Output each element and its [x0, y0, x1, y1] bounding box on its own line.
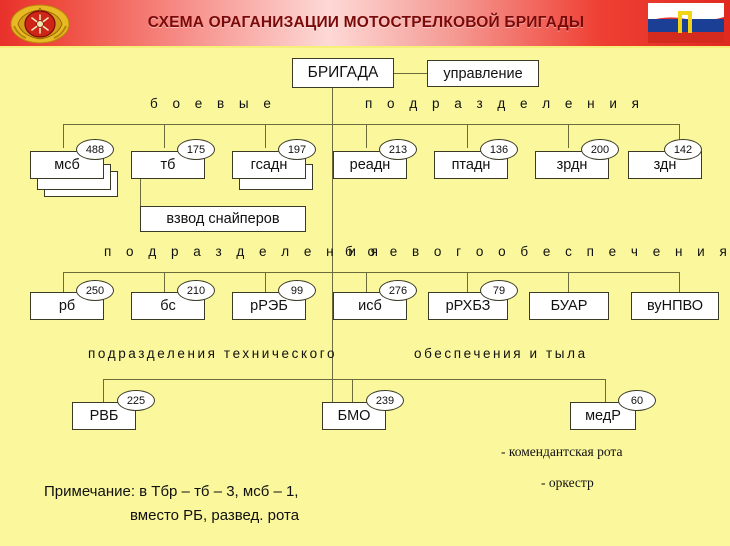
- drop-combat-1: [164, 124, 165, 148]
- badge-msb: 488: [76, 139, 114, 160]
- node-buar[interactable]: БУАР: [529, 292, 609, 320]
- node-upravlenie[interactable]: управление: [427, 60, 539, 87]
- drop-rear-0: [103, 379, 104, 402]
- section-label-support-right: б о е в о г о о б е с п е ч е н и я: [345, 244, 730, 259]
- drop-support-2: [265, 272, 266, 292]
- title-banner: СХЕМА ОРАГАНИЗАЦИИ МОТОСТРЕЛКОВОЙ БРИГАД…: [0, 0, 730, 48]
- drop-combat-5: [568, 124, 569, 148]
- drop-combat-3: [366, 124, 367, 148]
- footnote-line-2: вместо РБ, развед. рота: [130, 507, 299, 524]
- drop-support-4: [467, 272, 468, 292]
- section-label-combat-right: п о д р а з д е л е н и я: [365, 96, 645, 111]
- badge-readn: 213: [379, 139, 417, 160]
- drop-combat-4: [467, 124, 468, 148]
- drop-combat-2: [265, 124, 266, 148]
- footnote-line-1: Примечание: в Тбр – тб – 3, мсб – 1,: [44, 483, 298, 500]
- drop-support-0: [63, 272, 64, 292]
- badge-gsadn: 197: [278, 139, 316, 160]
- section-label-combat-left: б о е в ы е: [150, 96, 276, 111]
- drop-sniper: [140, 179, 141, 206]
- page-title: СХЕМА ОРАГАНИЗАЦИИ МОТОСТРЕЛКОВОЙ БРИГАД…: [96, 0, 636, 46]
- extra-item-komendantskaya-rota: - комендантская рота: [501, 444, 622, 460]
- node-vunpvo[interactable]: вуНПВО: [631, 292, 719, 320]
- drop-rear-2: [605, 379, 606, 402]
- russian-army-emblem-icon: [8, 2, 72, 44]
- badge-isb: 276: [379, 280, 417, 301]
- drop-support-3: [366, 272, 367, 292]
- drop-support-6: [679, 272, 680, 292]
- badge-medr: 60: [618, 390, 656, 411]
- bus-rear: [103, 379, 606, 380]
- bus-support: [63, 272, 680, 273]
- badge-zrdn: 200: [581, 139, 619, 160]
- drop-combat-0: [63, 124, 64, 148]
- bus-combat: [63, 124, 680, 125]
- connector-brigade-staff: [394, 73, 427, 74]
- drop-support-1: [164, 272, 165, 292]
- drop-rear-1: [352, 379, 353, 402]
- badge-tb: 175: [177, 139, 215, 160]
- extra-item-orkestr: - оркестр: [541, 475, 594, 491]
- node-brigade[interactable]: БРИГАДА: [292, 58, 394, 88]
- russian-flag-icon: [642, 1, 726, 45]
- badge-rreb: 99: [278, 280, 316, 301]
- badge-rrhbz: 79: [480, 280, 518, 301]
- badge-bmo: 239: [366, 390, 404, 411]
- drop-support-5: [568, 272, 569, 292]
- org-chart: БРИГАДА управление б о е в ы е п о д р а…: [0, 46, 730, 546]
- badge-rvb: 225: [117, 390, 155, 411]
- badge-rb: 250: [76, 280, 114, 301]
- badge-ptadn: 136: [480, 139, 518, 160]
- badge-zdn: 142: [664, 139, 702, 160]
- node-sniper-platoon[interactable]: взвод снайперов: [140, 206, 306, 232]
- badge-bs: 210: [177, 280, 215, 301]
- section-label-rear-right: обеспечения и тыла: [414, 346, 588, 361]
- section-label-rear-left: подразделения технического: [88, 346, 337, 361]
- section-label-support-left: п о д р а з д е л е н и я: [104, 244, 384, 259]
